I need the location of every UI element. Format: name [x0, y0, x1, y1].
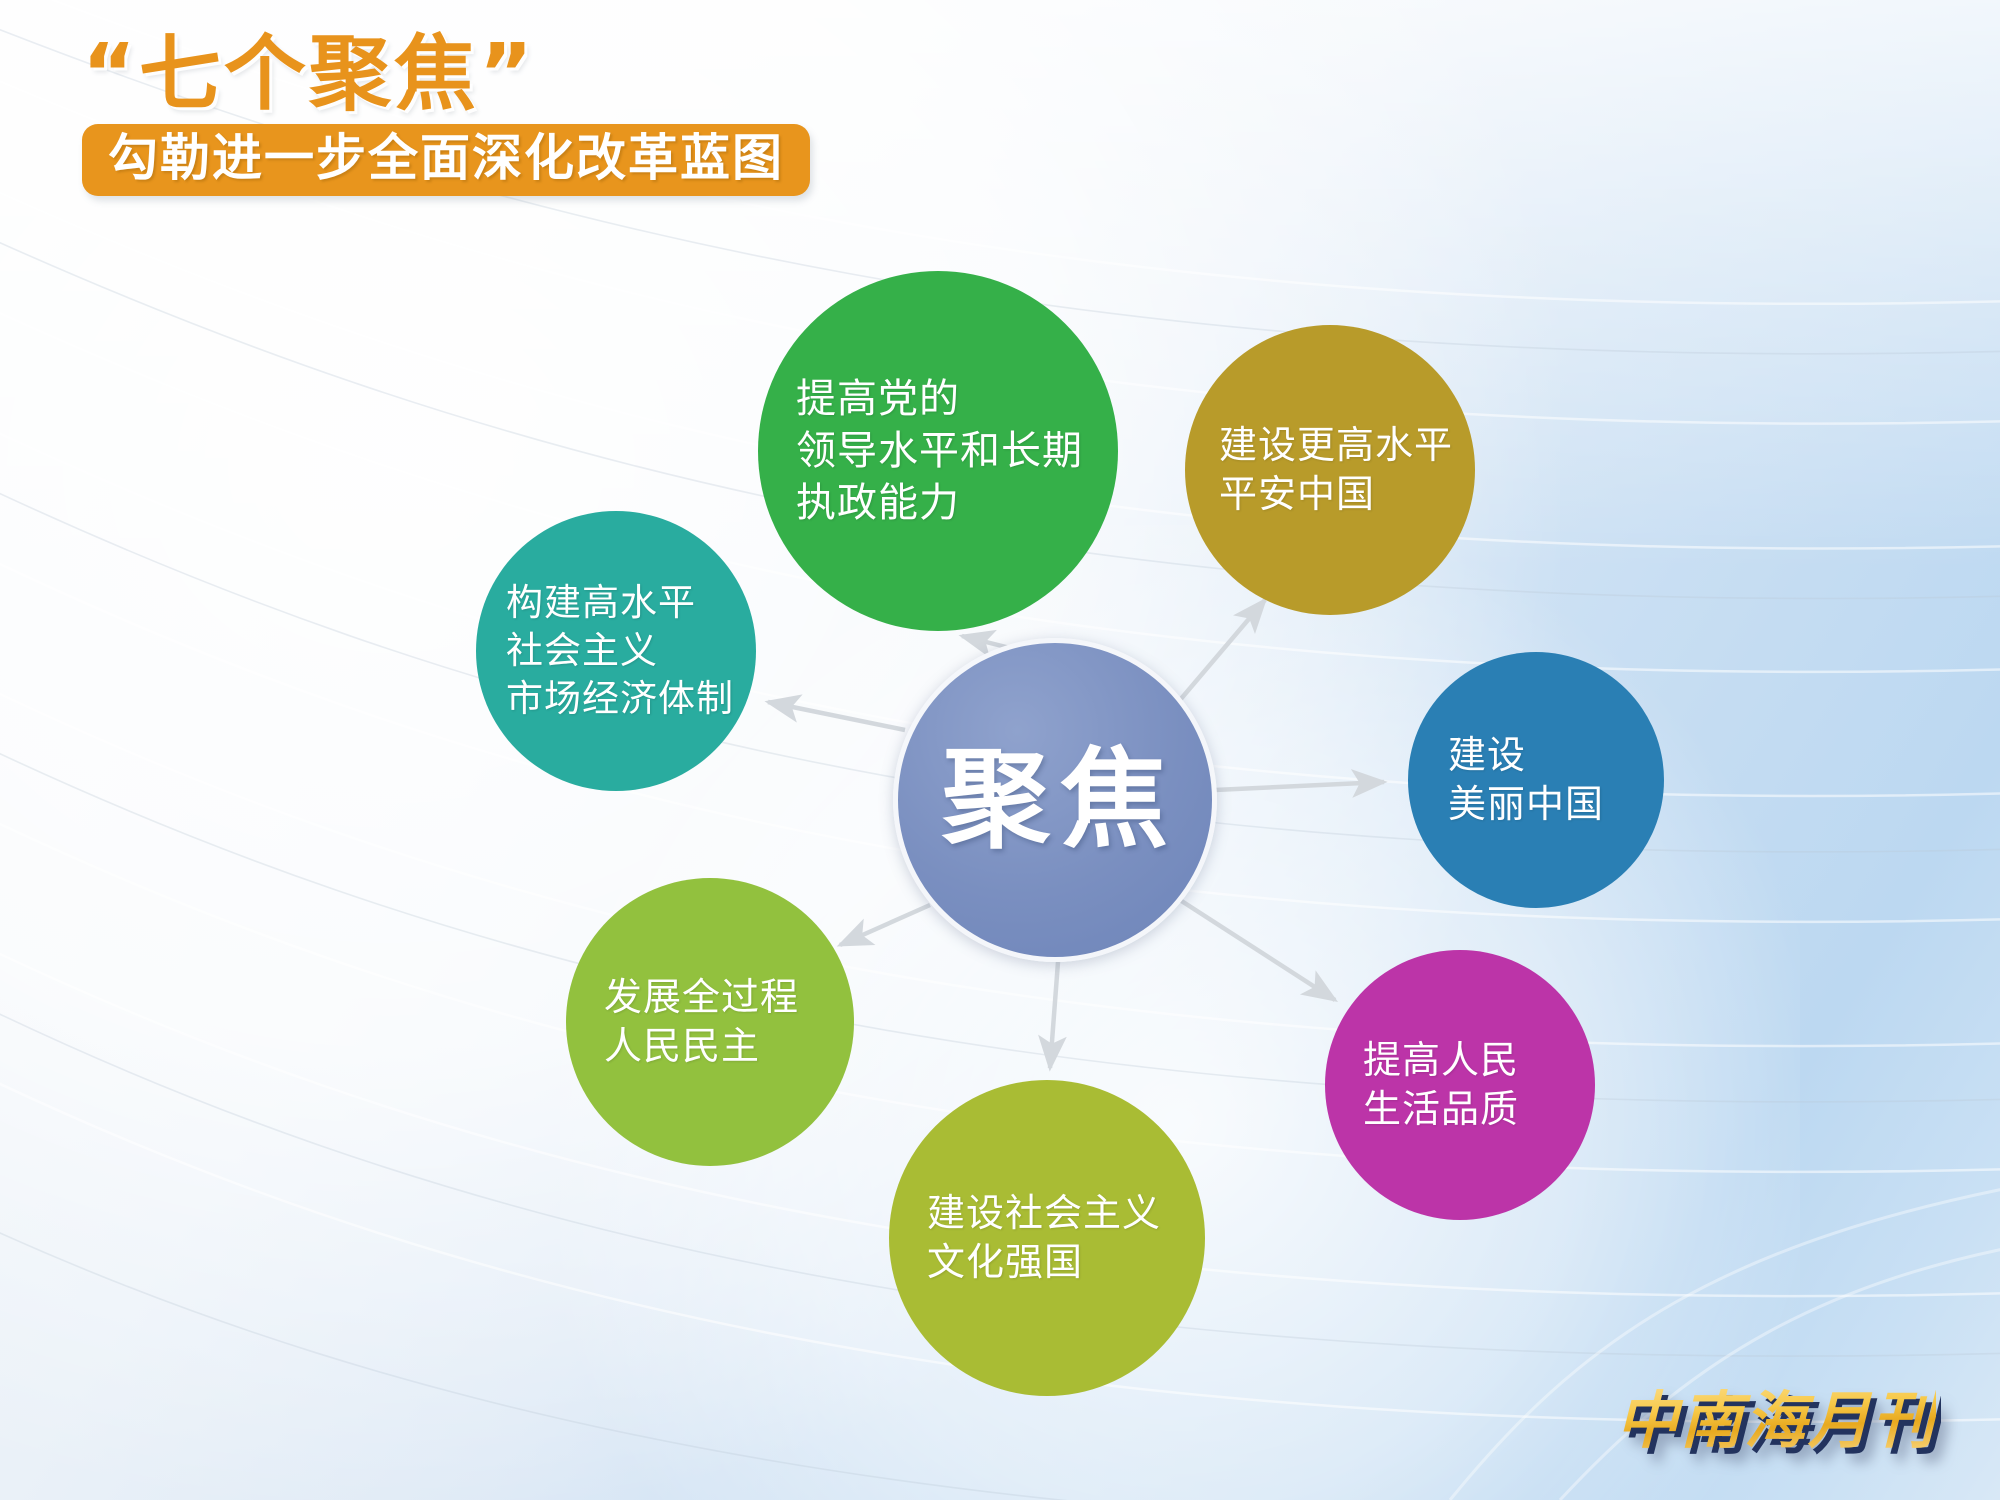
node-market-economy-label: 构建高水平 社会主义 市场经济体制	[476, 579, 734, 723]
radial-diagram: 聚焦 提高党的 领导水平和长期 执政能力 建设更高水平 平安中国 建设 美丽中国…	[0, 0, 2000, 1500]
center-node-label: 聚焦	[932, 746, 1178, 854]
node-life-quality-label: 提高人民 生活品质	[1325, 1036, 1519, 1135]
node-whole-process-democracy[interactable]: 发展全过程 人民民主	[566, 878, 854, 1166]
arrow-to-beautiful-china	[1215, 782, 1384, 790]
node-party-leadership[interactable]: 提高党的 领导水平和长期 执政能力	[758, 271, 1118, 631]
node-whole-process-democracy-label: 发展全过程 人民民主	[566, 973, 799, 1072]
arrow-to-democracy	[840, 905, 930, 945]
arrow-to-market-economy	[768, 702, 905, 730]
node-party-leadership-label: 提高党的 领导水平和长期 执政能力	[758, 373, 1083, 529]
node-beautiful-china-label: 建设 美丽中国	[1408, 731, 1604, 830]
node-safe-china[interactable]: 建设更高水平 平安中国	[1185, 325, 1475, 615]
infographic-poster: “七个聚焦” 勾勒进一步全面深化改革蓝图	[0, 0, 2000, 1500]
node-beautiful-china[interactable]: 建设 美丽中国	[1408, 652, 1664, 908]
node-cultural-power[interactable]: 建设社会主义 文化强国	[889, 1080, 1205, 1396]
node-life-quality[interactable]: 提高人民 生活品质	[1325, 950, 1595, 1220]
arrow-to-cultural-power	[1050, 962, 1058, 1068]
arrow-to-life-quality	[1180, 900, 1335, 1000]
publication-logo: 中南海月刊	[1616, 1370, 1936, 1460]
node-cultural-power-label: 建设社会主义 文化强国	[889, 1189, 1161, 1288]
node-safe-china-label: 建设更高水平 平安中国	[1185, 421, 1453, 520]
node-market-economy[interactable]: 构建高水平 社会主义 市场经济体制	[476, 511, 756, 791]
arrow-to-safe-china	[1180, 600, 1265, 700]
center-node-focus[interactable]: 聚焦	[893, 638, 1217, 962]
